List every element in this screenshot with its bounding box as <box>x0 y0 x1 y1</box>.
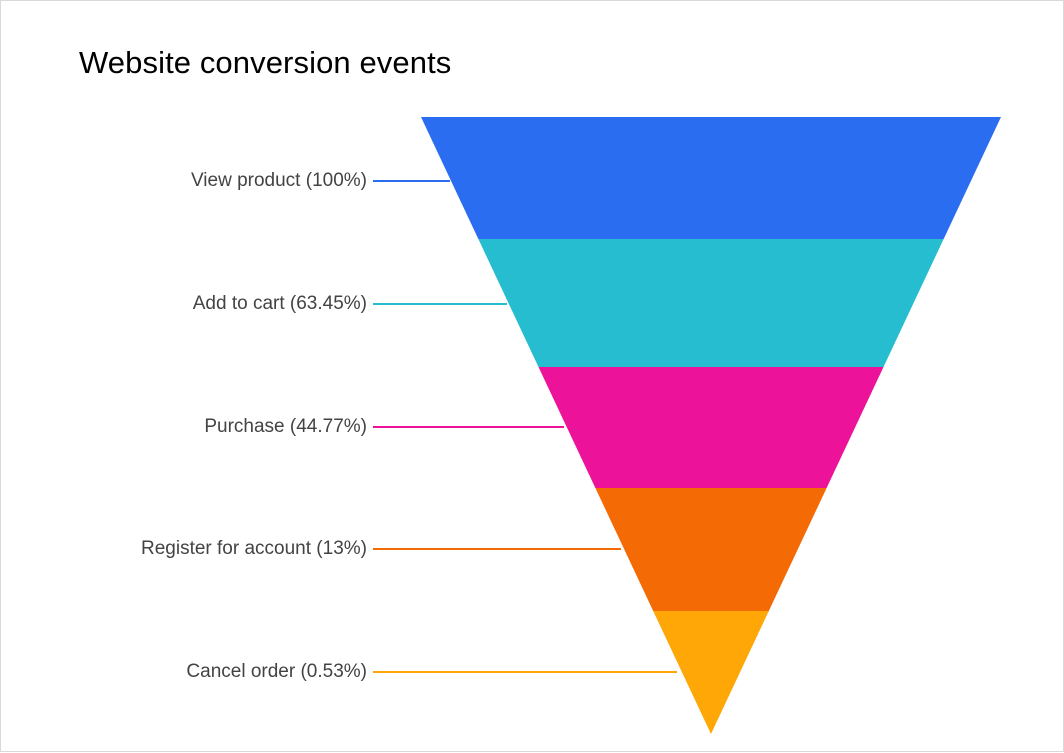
funnel-label-2: Purchase (44.77%) <box>1 416 367 438</box>
funnel-segment-0[interactable] <box>421 117 1001 239</box>
funnel-segment-1[interactable] <box>478 239 943 367</box>
funnel-graphic <box>1 1 1064 753</box>
funnel-segments <box>421 117 1001 734</box>
funnel-segment-3[interactable] <box>595 488 826 611</box>
funnel-label-1: Add to cart (63.45%) <box>1 293 367 315</box>
funnel-label-0: View product (100%) <box>1 170 367 192</box>
funnel-chart: Website conversion events View product (… <box>0 0 1064 752</box>
funnel-label-3: Register for account (13%) <box>1 538 367 560</box>
funnel-segment-2[interactable] <box>539 367 884 488</box>
funnel-label-4: Cancel order (0.53%) <box>1 661 367 683</box>
